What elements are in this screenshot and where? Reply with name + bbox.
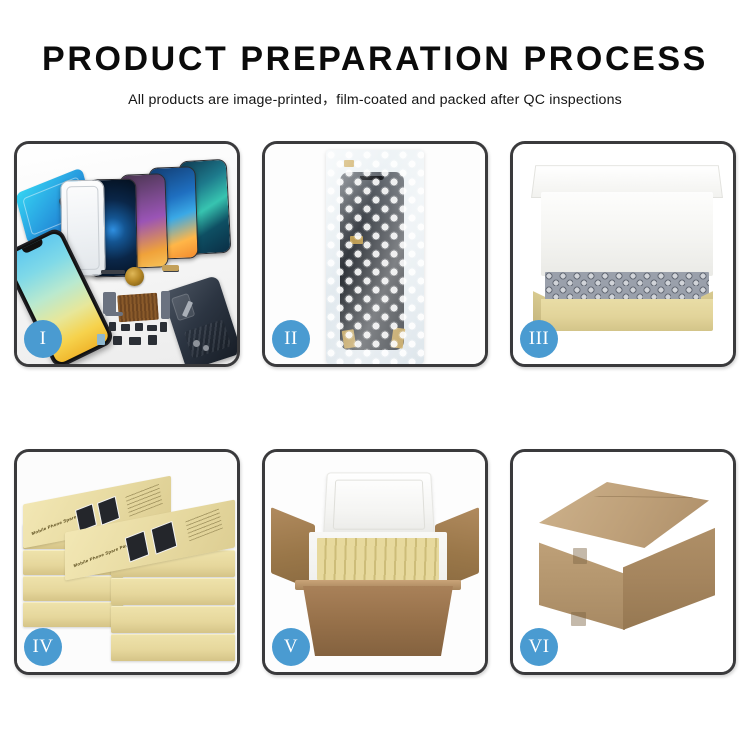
spare-part-icon (101, 270, 125, 274)
process-step-panel-2[interactable]: II (262, 141, 488, 367)
chip-icon (113, 336, 122, 345)
chip-icon (97, 334, 105, 345)
process-step-panel-4[interactable]: Mobile Phone Spare Parts Mobile Phone Sp… (14, 449, 240, 675)
chip-icon (121, 324, 130, 331)
screw-icon (193, 340, 200, 347)
chip-icon (160, 322, 167, 332)
screw-icon (203, 345, 209, 351)
bubble-wrap-pouch-icon (326, 150, 424, 364)
speaker-coil-icon (125, 267, 144, 286)
box-label-text: Mobile Phone Spare Parts (73, 541, 132, 568)
process-step-grid: I II III (14, 141, 736, 675)
chip-icon (147, 325, 157, 331)
carton-body-icon (303, 586, 453, 656)
packed-yellow-boxes-icon (317, 538, 439, 580)
foam-sheet-icon (541, 192, 713, 276)
chip-icon (109, 322, 116, 331)
logic-board-icon (117, 293, 159, 323)
process-step-panel-1[interactable]: I (14, 141, 240, 367)
box-thumbnail-icon (151, 521, 178, 555)
step-badge-2: II (272, 320, 310, 358)
kraft-box-front-icon (541, 299, 713, 331)
flex-cable-icon (103, 292, 116, 314)
bubble-wrap-layer-icon (545, 272, 709, 302)
spare-part-icon (162, 265, 179, 271)
step-badge-1: I (24, 320, 62, 358)
box-thumbnail-icon (125, 530, 150, 562)
chip-icon (148, 335, 157, 345)
chip-icon (135, 323, 143, 331)
box-thumbnail-icon (97, 496, 120, 526)
step-badge-6: VI (520, 628, 558, 666)
step-badge-4: IV (24, 628, 62, 666)
page-subtitle: All products are image-printed，film-coat… (0, 78, 750, 109)
chip-icon (129, 337, 141, 345)
page-title: PRODUCT PREPARATION PROCESS (0, 0, 750, 78)
process-step-panel-5[interactable]: V (262, 449, 488, 675)
step-badge-3: III (520, 320, 558, 358)
process-step-panel-6[interactable]: VI (510, 449, 736, 675)
foam-lid-icon (323, 472, 435, 537)
flex-cable-icon (105, 312, 123, 316)
process-step-panel-3[interactable]: III (510, 141, 736, 367)
carton-tab-icon (571, 612, 586, 626)
flex-cable-icon (161, 291, 170, 319)
carton-tab-icon (573, 548, 587, 564)
page-header: PRODUCT PREPARATION PROCESS All products… (0, 0, 750, 109)
step-badge-5: V (272, 628, 310, 666)
